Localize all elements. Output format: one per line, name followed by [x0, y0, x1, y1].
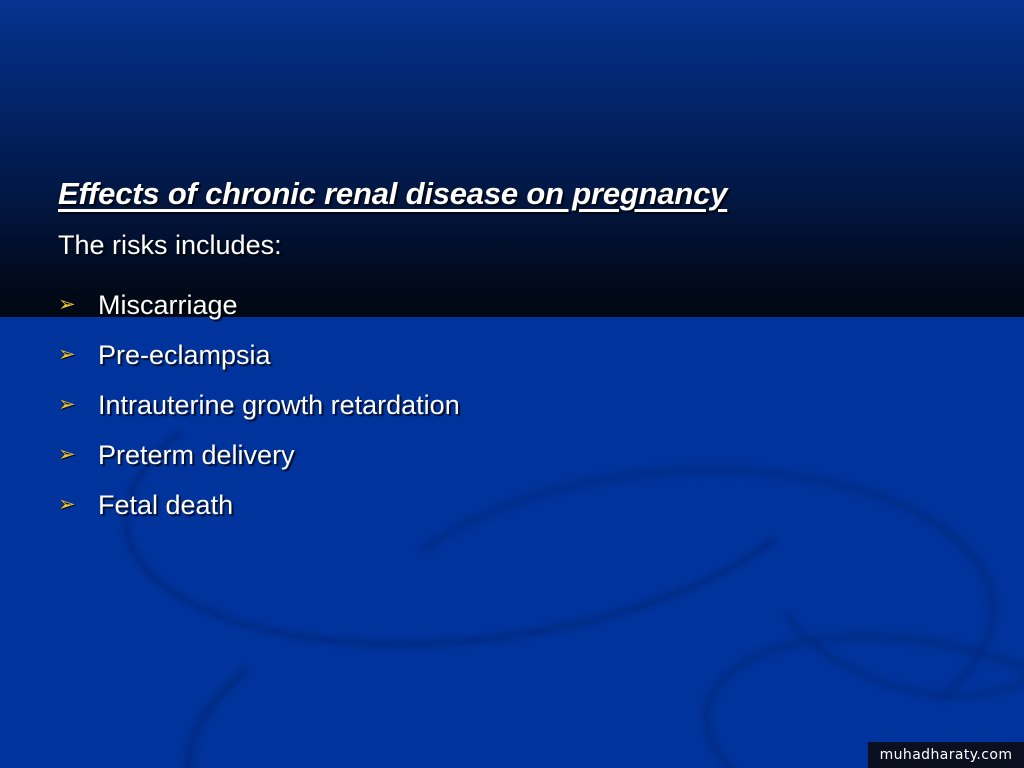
arrowhead-bullet-icon: ➢	[58, 280, 98, 330]
slide-content: Effects of chronic renal disease on preg…	[0, 0, 1024, 768]
list-item-label: Pre-eclampsia	[98, 330, 271, 380]
list-item: ➢ Fetal death	[58, 480, 958, 530]
list-item: ➢ Intrauterine growth retardation	[58, 380, 958, 430]
arrowhead-bullet-icon: ➢	[58, 480, 98, 530]
list-item-label: Intrauterine growth retardation	[98, 380, 460, 430]
intro-text: The risks includes:	[58, 230, 282, 261]
slide-title: Effects of chronic renal disease on preg…	[58, 176, 727, 212]
list-item: ➢ Miscarriage	[58, 280, 958, 330]
presentation-slide: Effects of chronic renal disease on preg…	[0, 0, 1024, 768]
watermark-badge: muhadharaty.com	[868, 742, 1024, 768]
risks-bullet-list: ➢ Miscarriage ➢ Pre-eclampsia ➢ Intraute…	[58, 280, 958, 530]
list-item-label: Preterm delivery	[98, 430, 295, 480]
list-item: ➢ Preterm delivery	[58, 430, 958, 480]
arrowhead-bullet-icon: ➢	[58, 430, 98, 480]
list-item-label: Miscarriage	[98, 280, 238, 330]
list-item-label: Fetal death	[98, 480, 233, 530]
arrowhead-bullet-icon: ➢	[58, 380, 98, 430]
arrowhead-bullet-icon: ➢	[58, 330, 98, 380]
list-item: ➢ Pre-eclampsia	[58, 330, 958, 380]
